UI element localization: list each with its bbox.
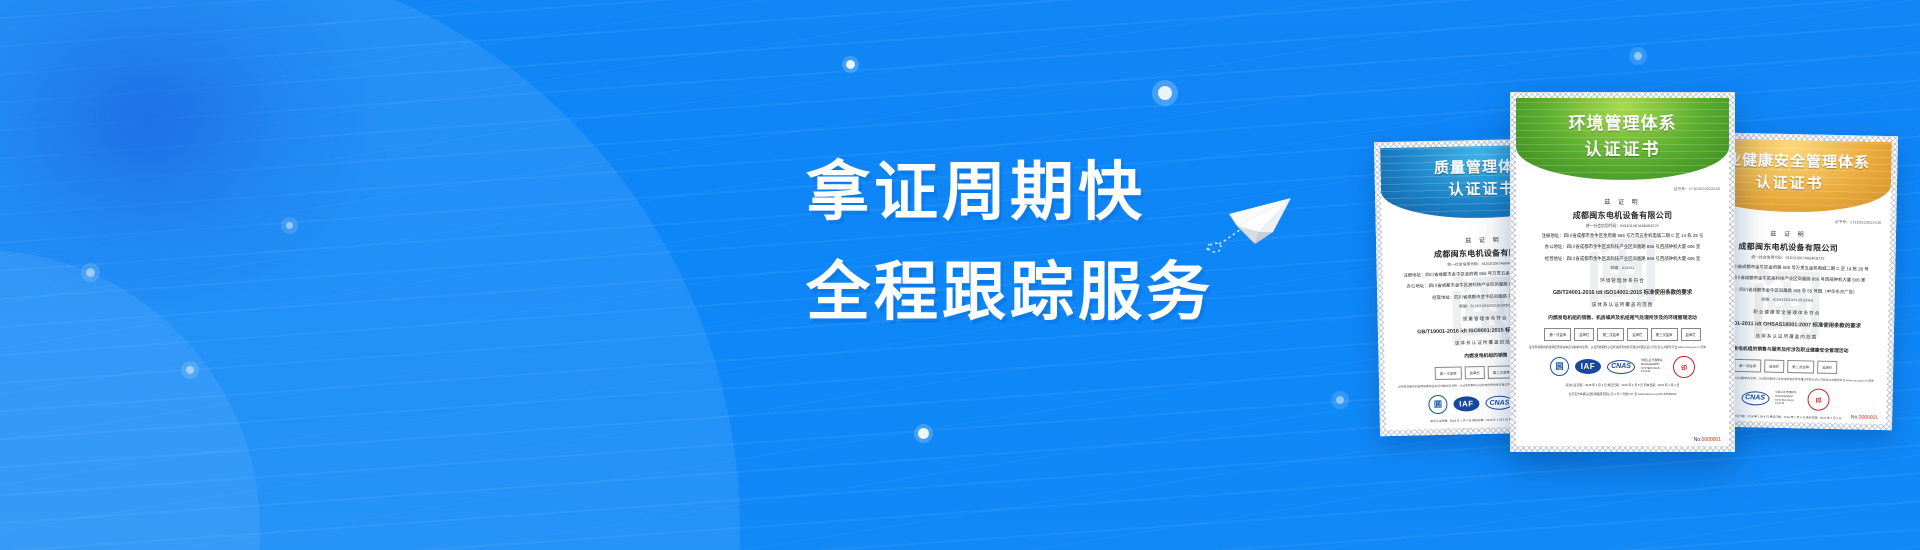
bokeh-dot — [186, 366, 194, 374]
bokeh-dot — [918, 428, 929, 439]
audit-cell: 第二次监审 — [1597, 328, 1624, 341]
headline-line-2: 全程跟踪服务 — [806, 242, 1366, 342]
iaf-logo: IAF — [1575, 359, 1601, 374]
certificate-attest-label: 兹 证 明 — [1525, 197, 1720, 206]
certificate-footer-number-label: No. — [1694, 437, 1702, 443]
audit-cell: 第三次监审 — [1651, 328, 1678, 341]
certificate-header-band: 环境管理体系 认证证书 — [1516, 98, 1729, 180]
certificate-credit-code: 统一社会信用代码：91510106?A664K87JY — [1525, 224, 1720, 229]
certificate-company-name: 成都闽东电机设备有限公司 — [1525, 210, 1720, 221]
audit-cell: 监审栏 — [1627, 328, 1647, 341]
certificate-footer-number: No.0000001 — [1851, 414, 1878, 421]
bokeh-dot — [1634, 52, 1642, 60]
paper-plane-icon — [1195, 186, 1305, 256]
certificate-title-line1: 环境管理体系 — [1569, 109, 1677, 134]
cnas-side-text: 中国认证 管理体系 MANAGEMENT SYSTEM CNAS-C174-M — [1775, 391, 1801, 407]
audit-cell: 监审栏 — [1764, 360, 1784, 373]
bokeh-dot — [286, 222, 293, 229]
promo-banner: 拿证周期快 全程跟踪服务 质量管理体系 认证证书 — [0, 0, 1920, 550]
certificate-address-2: 办公地址：四川省成都市金牛区高科技产业区凤凰路 866 号西部钟机大厦 606 … — [1525, 243, 1720, 251]
certificate-issuer: 北京东方纵横认证检测集团有限公司 4 号 1 号楼 707 室 www.bdcm… — [1525, 392, 1720, 397]
certificate-logo-row: 囻 IAF CNAS 中国认证 管理体系 MANAGEMENT SYSTEM C… — [1525, 356, 1720, 378]
certificate-address-3: 经营地址：四川省成都市金牛区高科技产业区凤凰路 866 号西部钟机大厦 606 … — [1525, 255, 1720, 263]
cnca-logo: 囻 — [1428, 394, 1447, 413]
bokeh-dot — [86, 268, 95, 277]
bokeh-dot — [1158, 86, 1172, 100]
audit-cell: 第一次监审 — [1544, 328, 1571, 341]
seal-stamp: 印 — [1806, 387, 1830, 411]
audit-cell: 监审栏 — [1817, 361, 1837, 374]
certificate-address-1: 注册地址：四川省成都市金牛区金府路 555 号万贯五金机电城二期 C 区 14 … — [1525, 232, 1720, 240]
audit-cell: 第二次监审 — [1787, 360, 1814, 374]
certificate-dates: 初次认证日期：2018 年 1 月 4 日 换证日期：2019 年 1 月 5 … — [1525, 383, 1720, 388]
audit-cell: 监审栏 — [1464, 366, 1484, 379]
bokeh-dot — [1336, 396, 1344, 404]
bokeh-dot — [846, 60, 855, 69]
certificate-footer-number-label: No. — [1851, 414, 1859, 420]
certificate-audit-table: 第一次监审 监审栏 第二次监审 监审栏 第三次监审 监审栏 — [1525, 328, 1720, 341]
certificate-scope: 内燃发电机组的销售、机房噪声及机组尾气处理所涉及的环境管理活动 — [1525, 314, 1720, 321]
certificate-standard: GB/T24001-2016 idt ISO14001:2015 标准使用条款的… — [1525, 288, 1720, 296]
certificate-footer-number-value: 0000001 — [1859, 415, 1879, 421]
certificate-footer-number: No.0000001 — [1694, 437, 1721, 443]
certificate-inner: 环境管理体系 认证证书 闽 证书号：171E0020022035 兹 证 明 成… — [1516, 98, 1729, 446]
certificate-title-line2: 认证证书 — [1755, 171, 1823, 193]
audit-cell: 第一次监审 — [1734, 359, 1761, 373]
cnas-logo: CNAS — [1607, 360, 1635, 374]
certificate-body: 闽 证书号：171E0020022035 兹 证 明 成都闽东电机设备有限公司 … — [1516, 180, 1729, 401]
cnca-logo: 囻 — [1550, 357, 1569, 376]
certificate-postcode: 邮编：610031 — [1525, 266, 1720, 271]
audit-cell: 监审栏 — [1574, 328, 1594, 341]
certificate-scope-title: 该体系认证所覆盖的范围 — [1525, 302, 1720, 308]
certificate-group: 质量管理体系 认证证书 闽 证书号：171E0020022035 兹 证 明 成… — [1350, 88, 1920, 488]
cnas-logo: CNAS — [1741, 391, 1769, 406]
audit-cell: 监审栏 — [1681, 328, 1701, 341]
certificate-number-label: 证书号：171E0020022035 — [1525, 187, 1720, 192]
certificate-environment[interactable]: 环境管理体系 认证证书 闽 证书号：171E0020022035 兹 证 明 成… — [1510, 92, 1735, 452]
iaf-logo: IAF — [1453, 396, 1479, 412]
certificate-title-line2: 认证证书 — [1585, 135, 1661, 160]
seal-stamp: 印 — [1672, 354, 1696, 378]
cnas-side-text: 中国认证 管理体系 MANAGEMENT SYSTEM CNAS-C174-M — [1641, 359, 1667, 375]
certificate-title-line2: 认证证书 — [1448, 177, 1516, 199]
certificate-system-title: 环境管理体系符合 — [1525, 278, 1720, 284]
certificate-footer-number-value: 0000001 — [1702, 437, 1721, 443]
certificate-fine-print: 证书有效期内的监审结果将在本证书副本内注明，认证有效期内认证状态的有效性可通过中… — [1525, 345, 1720, 349]
audit-cell: 第一次监审 — [1435, 367, 1462, 381]
